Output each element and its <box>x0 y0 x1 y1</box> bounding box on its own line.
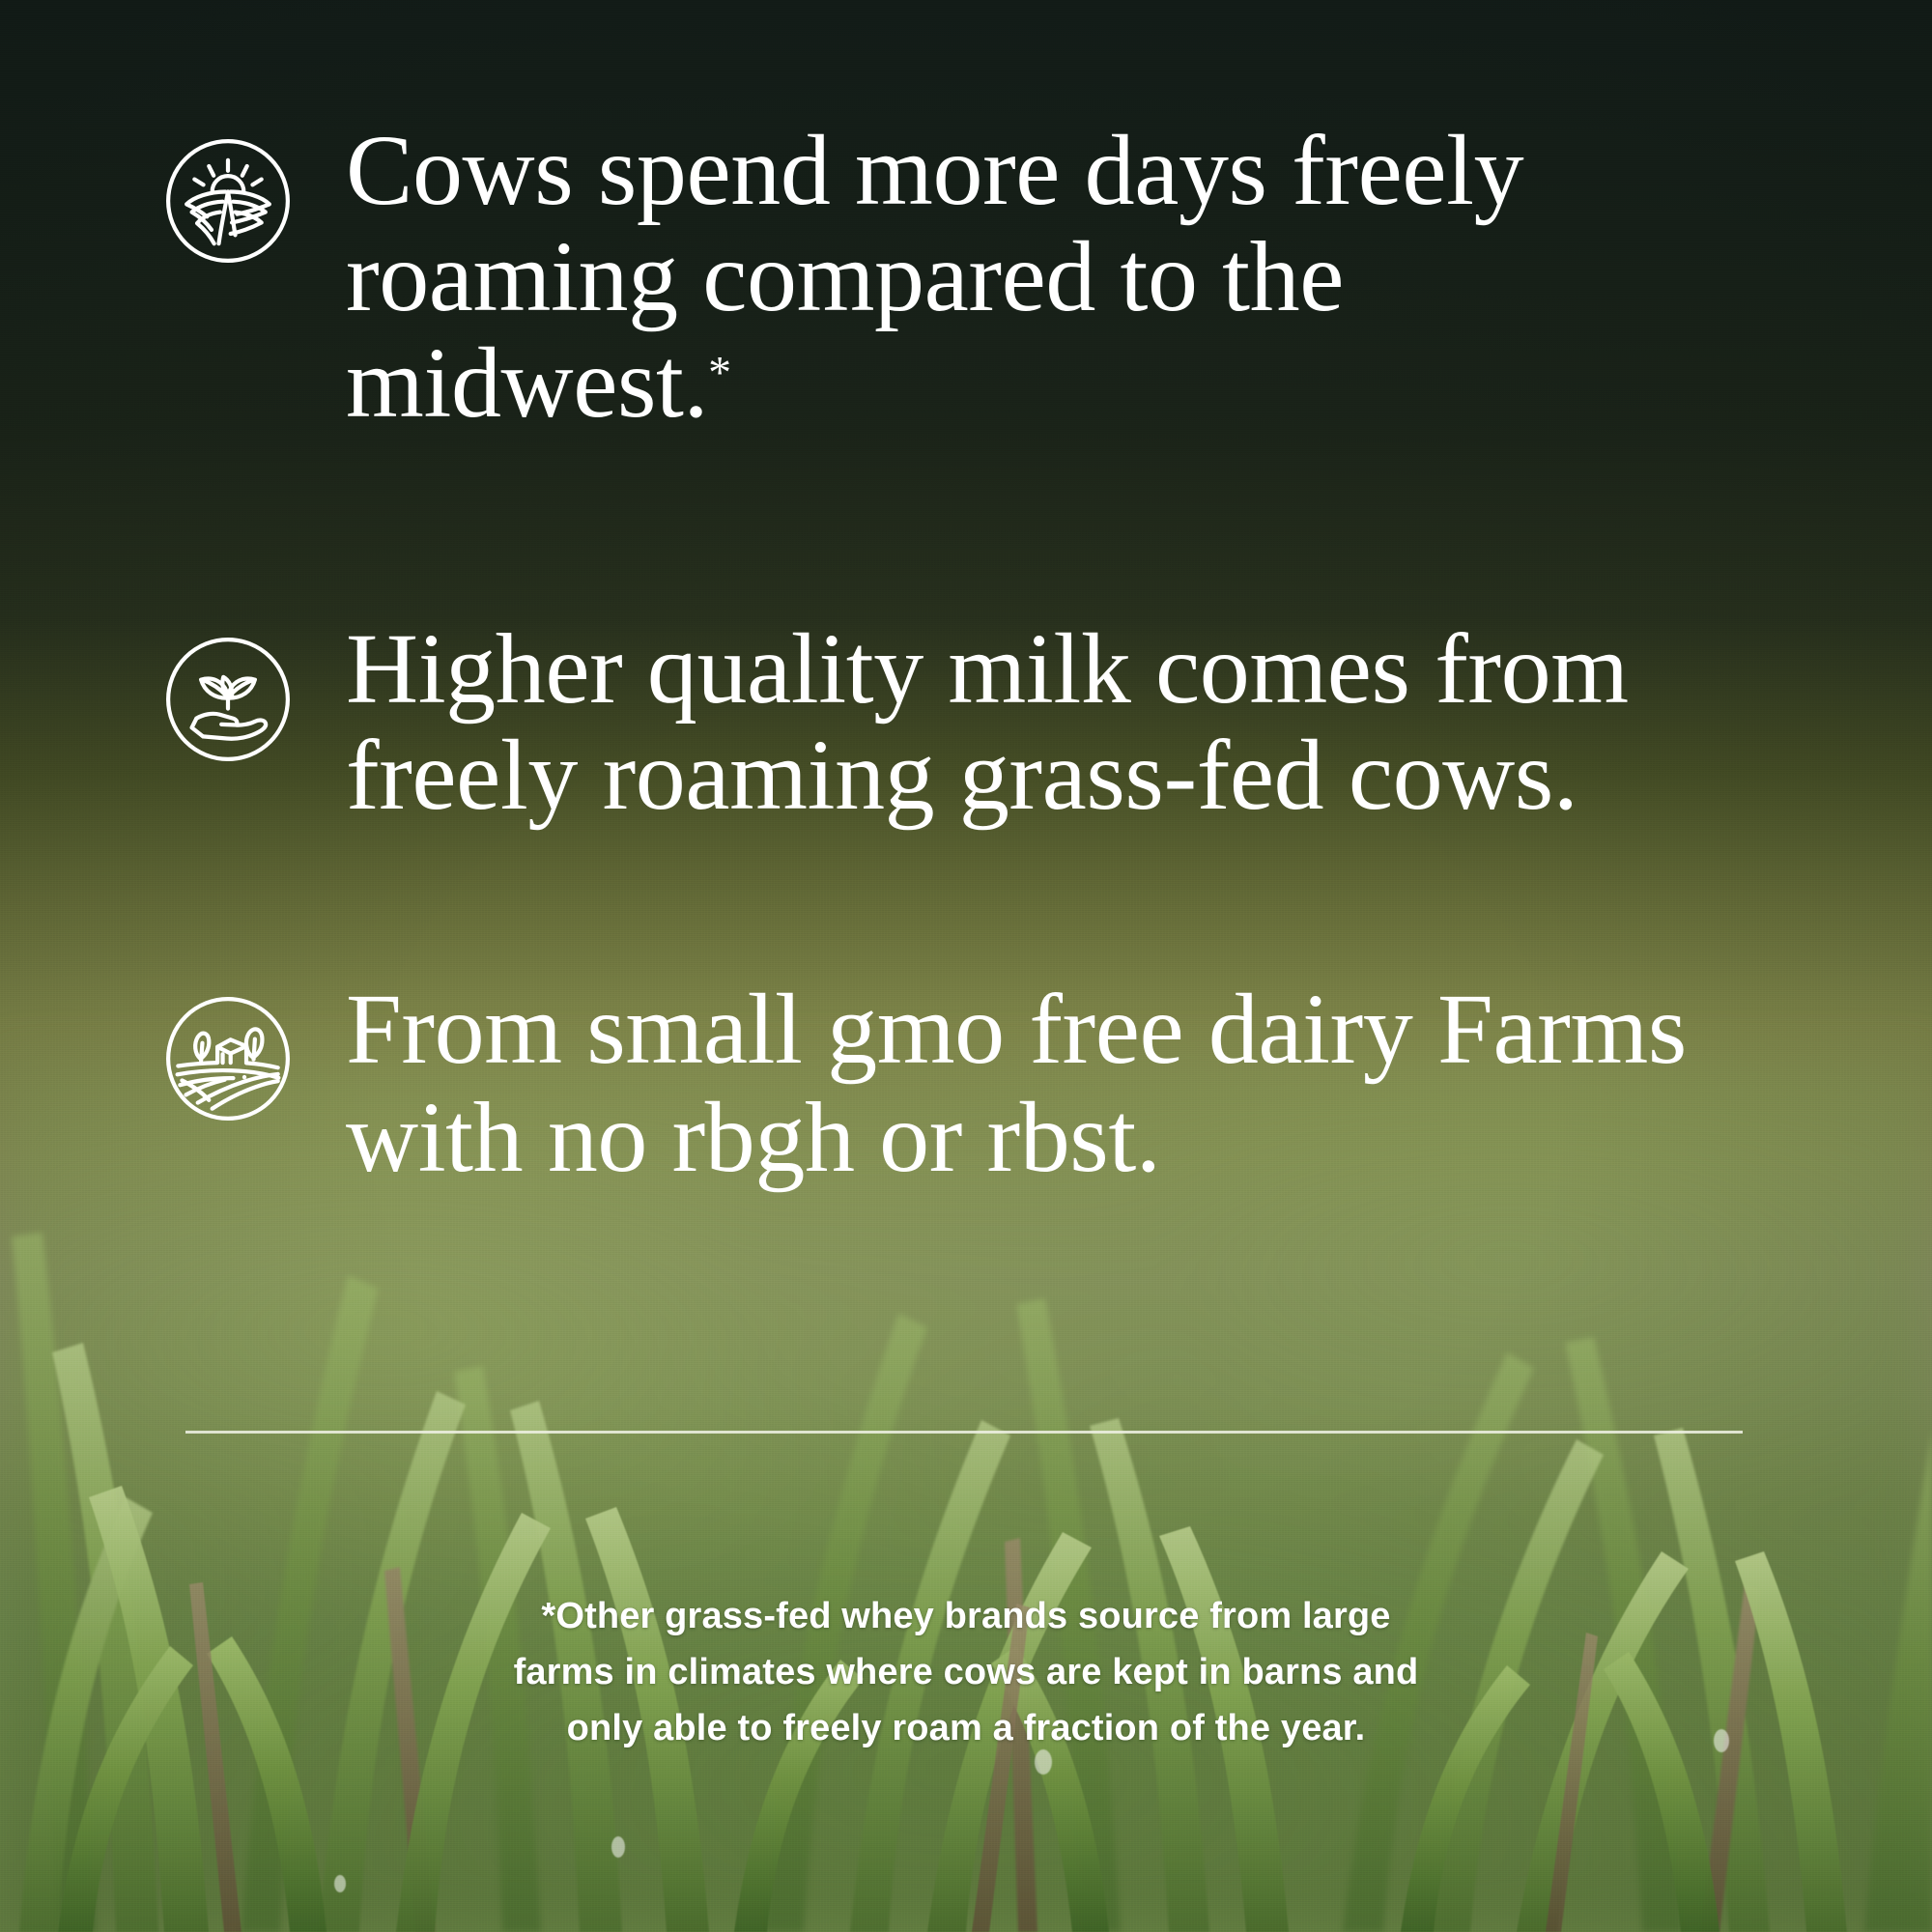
bullet-item-3: From small gmo free dairy Farms with no … <box>162 993 1816 1193</box>
hand-holding-sprout-icon <box>162 634 294 765</box>
bullet-text-1: Cows spend more days freely roaming comp… <box>346 118 1592 438</box>
footnote-line-3: only able to freely roam a fraction of t… <box>0 1701 1932 1757</box>
bullet-text-3: From small gmo free dairy Farms with no … <box>346 976 1698 1193</box>
footnote-marker-1: * <box>708 348 731 399</box>
bullet-item-2: Higher quality milk comes from freely ro… <box>162 634 1816 829</box>
bullet-text-1-body: Cows spend more days freely roaming comp… <box>346 115 1523 439</box>
section-divider <box>185 1431 1743 1434</box>
promo-graphic: Cows spend more days freely roaming comp… <box>0 0 1932 1932</box>
footnote-disclaimer: *Other grass-fed whey brands source from… <box>0 1589 1932 1756</box>
content-overlay: Cows spend more days freely roaming comp… <box>0 0 1932 1932</box>
footnote-line-2: farms in climates where cows are kept in… <box>0 1645 1932 1701</box>
barn-with-fields-icon <box>162 993 294 1124</box>
bullet-text-2-body: Higher quality milk comes from freely ro… <box>346 613 1629 831</box>
bullet-text-2: Higher quality milk comes from freely ro… <box>346 616 1766 829</box>
footnote-line-1: *Other grass-fed whey brands source from… <box>0 1589 1932 1645</box>
bullet-item-1: Cows spend more days freely roaming comp… <box>162 135 1816 438</box>
bullet-text-3-body: From small gmo free dairy Farms with no … <box>346 974 1687 1193</box>
sun-over-fields-icon <box>162 135 294 267</box>
